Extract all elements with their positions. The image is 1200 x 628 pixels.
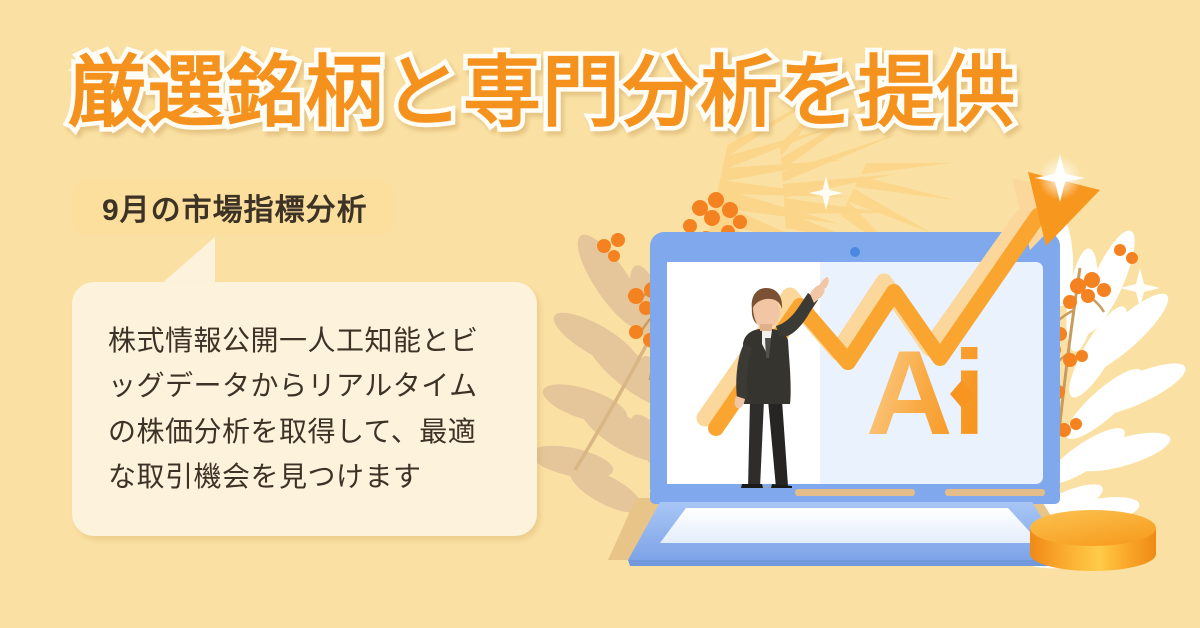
status-badge-label: 9月の市場指標分析 bbox=[102, 185, 368, 229]
laptop-base-lip bbox=[628, 560, 1068, 566]
ai-logo: Ai bbox=[866, 326, 986, 460]
speech-bubble-tail bbox=[160, 237, 215, 285]
laptop-keyboard-surface bbox=[660, 508, 1040, 543]
page-title: 厳選銘柄と専門分析を提供 bbox=[68, 52, 1138, 134]
gold-coin bbox=[1030, 510, 1156, 571]
bubble-line: ッグデータからリアルタイム bbox=[108, 363, 518, 408]
bubble-line: な取引機会を見つけます bbox=[108, 454, 518, 499]
speech-bubble-text: 株式情報公開一人工知能とビ ッグデータからリアルタイム の株価分析を取得して、最… bbox=[108, 318, 518, 499]
bubble-line: 株式情報公開一人工知能とビ bbox=[108, 318, 518, 363]
hero-banner: Ai bbox=[0, 0, 1200, 628]
bubble-line: の株価分析を取得して、最適 bbox=[108, 409, 518, 454]
status-badge: 9月の市場指標分析 bbox=[72, 180, 394, 234]
laptop-webcam-icon bbox=[850, 247, 860, 257]
